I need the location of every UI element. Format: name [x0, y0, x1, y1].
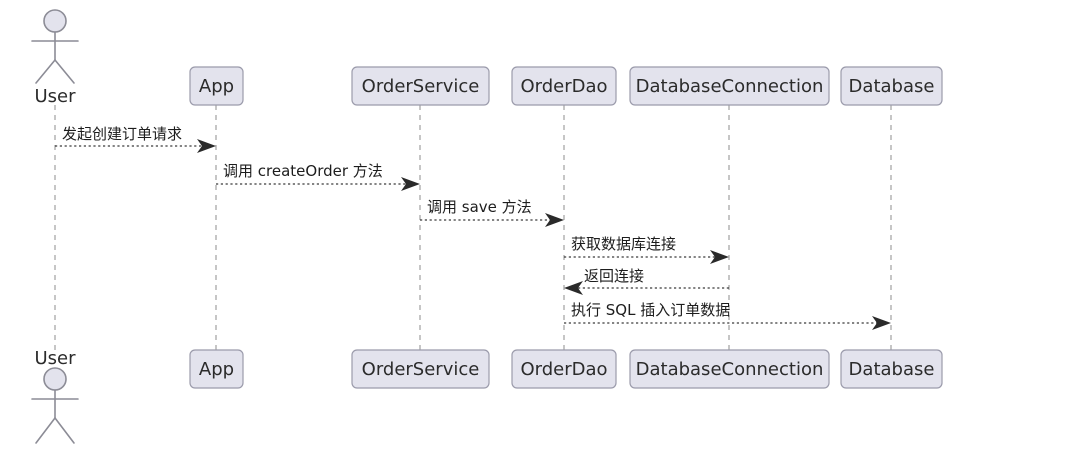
message-label-6: 执行 SQL 插入订单数据: [571, 301, 730, 319]
sequence-diagram-svg: User App OrderService OrderDao DatabaseC…: [0, 0, 1080, 469]
message-label-3: 调用 save 方法: [427, 198, 532, 216]
participant-label-orderservice-bottom: OrderService: [362, 359, 480, 380]
actor-label-user-bottom: User: [34, 348, 76, 369]
message-label-2: 调用 createOrder 方法: [223, 162, 383, 180]
participant-label-orderdao-top: OrderDao: [520, 76, 607, 97]
sequence-diagram-canvas: User App OrderService OrderDao DatabaseC…: [0, 0, 1080, 469]
participant-box-orderdao-bottom[interactable]: OrderDao: [512, 350, 616, 388]
message-4-get-db-connection[interactable]: 获取数据库连接: [564, 235, 729, 264]
participant-label-database-bottom: Database: [849, 359, 935, 380]
participant-box-orderdao-top[interactable]: OrderDao: [512, 67, 616, 105]
actor-head-icon: [44, 10, 66, 32]
arrow-head-icon: [545, 213, 564, 227]
actor-leg-right: [55, 418, 74, 443]
participant-label-orderservice-top: OrderService: [362, 76, 480, 97]
participant-box-database-top[interactable]: Database: [841, 67, 942, 105]
participant-box-app-bottom[interactable]: App: [190, 350, 243, 388]
participant-box-orderservice-top[interactable]: OrderService: [352, 67, 489, 105]
participant-boxes-bottom: App OrderService OrderDao DatabaseConnec…: [190, 350, 942, 388]
message-6-execute-sql-insert[interactable]: 执行 SQL 插入订单数据: [564, 301, 891, 330]
participant-label-orderdao-bottom: OrderDao: [520, 359, 607, 380]
message-label-5: 返回连接: [584, 267, 644, 285]
actor-leg-left: [36, 60, 55, 83]
participant-label-databaseconnection-top: DatabaseConnection: [636, 76, 824, 97]
participant-box-database-bottom[interactable]: Database: [841, 350, 942, 388]
participant-label-database-top: Database: [849, 76, 935, 97]
participant-label-app-top: App: [199, 76, 234, 97]
actor-head-icon: [44, 368, 66, 390]
actor-leg-left: [36, 418, 55, 443]
arrow-head-icon: [872, 316, 891, 330]
participant-box-orderservice-bottom[interactable]: OrderService: [352, 350, 489, 388]
participant-box-databaseconnection-bottom[interactable]: DatabaseConnection: [630, 350, 829, 388]
message-3-call-save[interactable]: 调用 save 方法: [420, 198, 564, 227]
actor-leg-right: [55, 60, 74, 83]
participant-box-databaseconnection-top[interactable]: DatabaseConnection: [630, 67, 829, 105]
participant-label-app-bottom: App: [199, 359, 234, 380]
participant-boxes-top: App OrderService OrderDao DatabaseConnec…: [190, 67, 942, 105]
actor-user-bottom[interactable]: User: [32, 348, 78, 443]
messages-layer: 发起创建订单请求 调用 createOrder 方法 调用 save 方法 获取…: [55, 125, 891, 330]
message-1-create-order-request[interactable]: 发起创建订单请求: [55, 125, 216, 153]
participant-box-app-top[interactable]: App: [190, 67, 243, 105]
actor-label-user-top: User: [34, 86, 76, 107]
participant-label-databaseconnection-bottom: DatabaseConnection: [636, 359, 824, 380]
actor-user-top[interactable]: User: [32, 10, 78, 107]
message-2-call-createorder[interactable]: 调用 createOrder 方法: [216, 162, 420, 191]
message-5-return-connection[interactable]: 返回连接: [564, 267, 729, 295]
message-label-4: 获取数据库连接: [571, 235, 676, 253]
message-label-1: 发起创建订单请求: [62, 125, 182, 143]
